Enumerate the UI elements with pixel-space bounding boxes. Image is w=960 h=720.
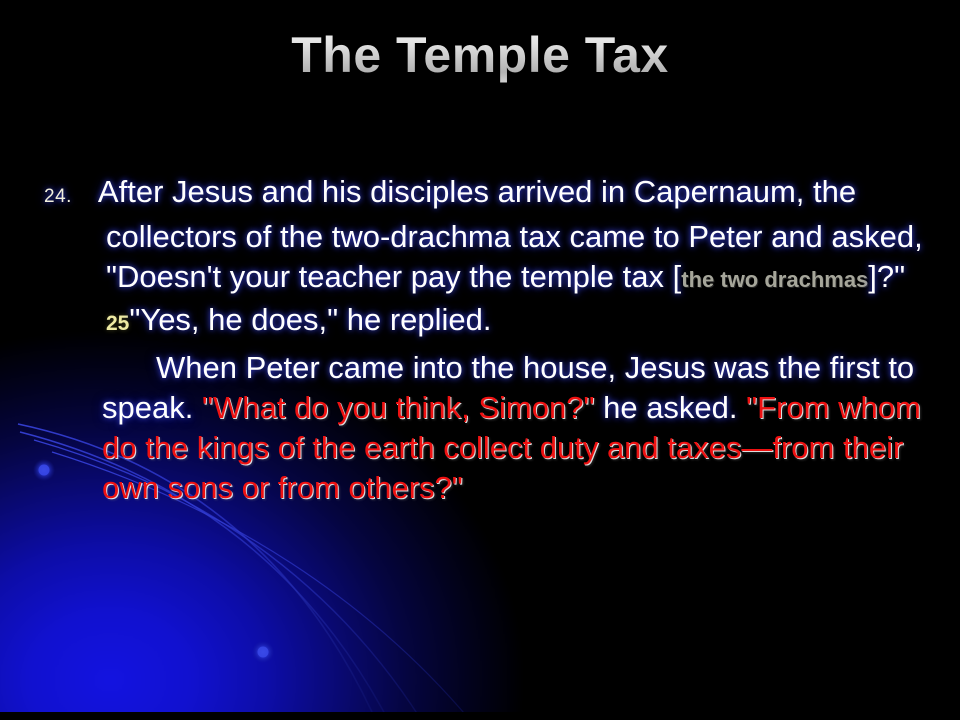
- verse-24-text-part-5: ]?": [868, 259, 905, 294]
- verse-number-25: 25: [106, 312, 129, 335]
- arc-node-lower: [252, 641, 274, 663]
- highlight-quote-kings-line-3: from others?": [278, 470, 463, 505]
- verse-25-text-part-2: does," he replied.: [251, 302, 491, 337]
- paragraph-verse-25-dialogue: When Peter came into the house, Jesus wa…: [44, 348, 944, 508]
- paragraph-verse-24: 24.After Jesus and his disciples arrived…: [44, 172, 944, 344]
- verse-25-text-part-1: "Yes, he: [129, 302, 242, 337]
- slide-title: The Temple Tax: [0, 28, 960, 83]
- dialogue-text-part-3: he: [603, 390, 637, 425]
- gloss-two-drachmas: the two drachmas: [681, 267, 868, 292]
- bottom-black-strip: [0, 712, 960, 720]
- verse-24-text-part-1: After Jesus and his disciples arrived in: [98, 174, 625, 209]
- slide-body: 24.After Jesus and his disciples arrived…: [44, 172, 944, 508]
- highlight-quote-simon: "What do you think, Simon?": [202, 390, 594, 425]
- arc-node-lower-core: [258, 647, 269, 658]
- verse-number-24: 24.: [44, 186, 72, 207]
- dialogue-text-part-4: asked.: [646, 390, 737, 425]
- verse-24-text-part-4: pay the temple tax [: [411, 259, 682, 294]
- dialogue-text-part-1: When Peter came into the house, Jesus wa…: [156, 350, 769, 385]
- slide: The Temple Tax 24.After Jesus and his di…: [0, 0, 960, 720]
